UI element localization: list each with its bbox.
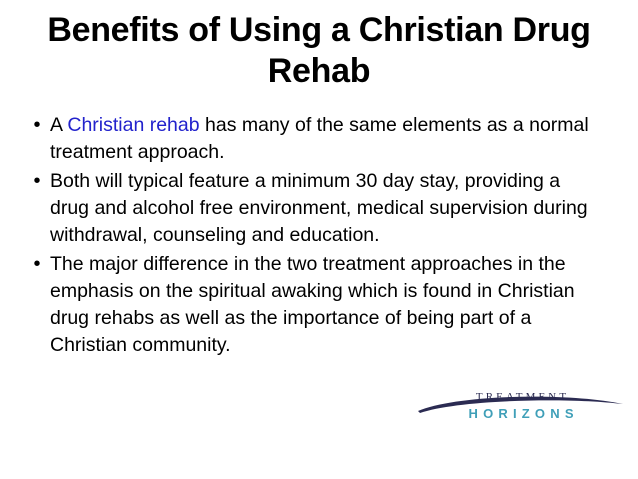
bullet-dot-icon: • (22, 168, 44, 195)
bullet-text-1: A Christian rehab has many of the same e… (44, 112, 614, 166)
title-line-1: Benefits of Using a Christian Drug (28, 10, 610, 51)
bullet-1-before-link: A (50, 114, 67, 136)
title-line-2: Rehab (28, 51, 610, 92)
bullet-text-3: The major difference in the two treatmen… (44, 251, 614, 359)
treatment-horizons-logo: TREATMENT HORIZONS (415, 388, 627, 430)
slide-canvas: Benefits of Using a Christian Drug Rehab… (0, 0, 638, 479)
bullet-list: • A Christian rehab has many of the same… (22, 112, 614, 361)
page-title: Benefits of Using a Christian Drug Rehab (28, 10, 610, 92)
logo-top-word: TREATMENT (415, 391, 627, 404)
list-item: • A Christian rehab has many of the same… (22, 112, 614, 166)
bullet-text-2: Both will typical feature a minimum 30 d… (44, 168, 614, 249)
logo-bottom-word: HORIZONS (415, 406, 627, 421)
bullet-dot-icon: • (22, 251, 44, 278)
bullet-dot-icon: • (22, 112, 44, 139)
list-item: • The major difference in the two treatm… (22, 251, 614, 359)
list-item: • Both will typical feature a minimum 30… (22, 168, 614, 249)
christian-rehab-link[interactable]: Christian rehab (67, 114, 199, 136)
